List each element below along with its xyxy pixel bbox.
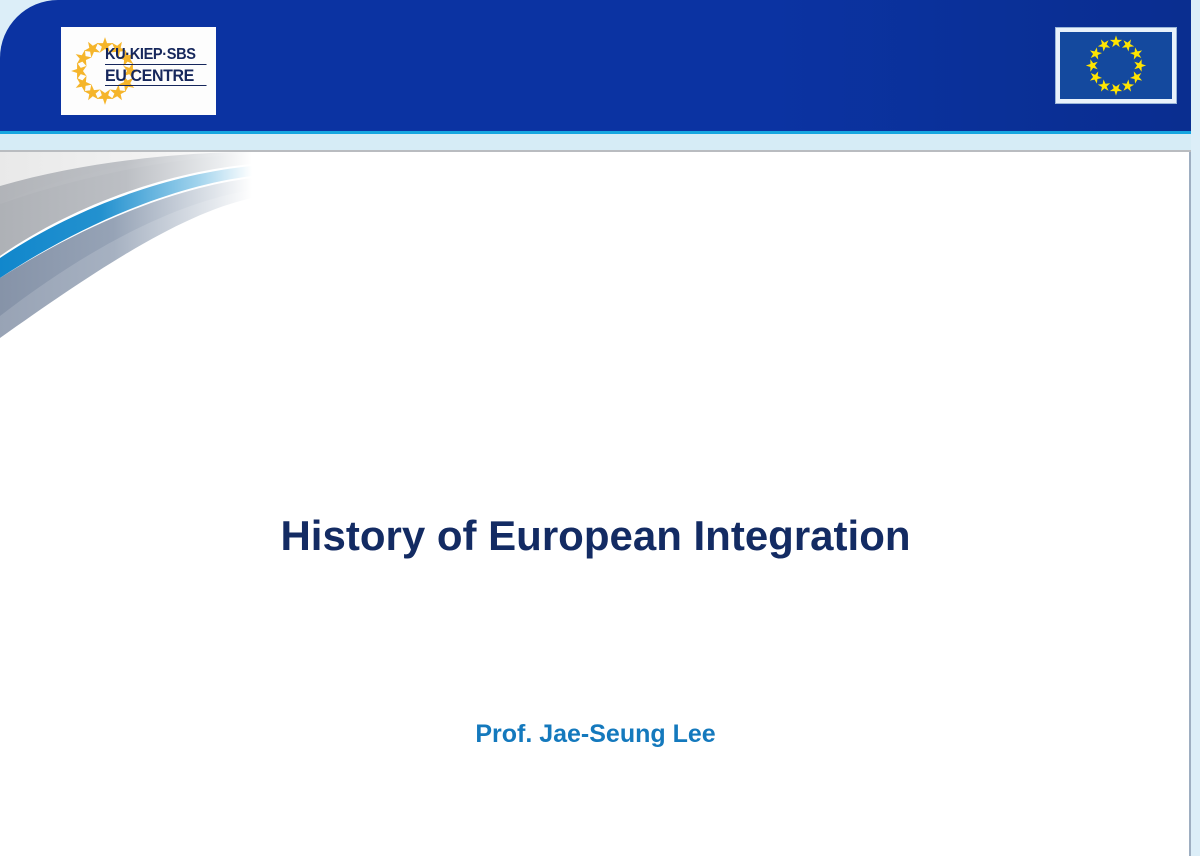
ku-kiep-sbs-eu-centre-logo[interactable]: KU·KIEP·SBS EU CENTRE	[61, 27, 216, 115]
presentation-slide: History of European Integration Prof. Ja…	[0, 0, 1200, 856]
corner-swoosh-decoration	[0, 152, 560, 452]
presenter-name: Prof. Jae-Seung Lee	[0, 720, 1191, 749]
content-right-border	[1189, 152, 1191, 856]
eu-flag-stars-icon	[1060, 32, 1172, 99]
logo-line-2: EU CENTRE	[105, 67, 207, 86]
page-title: History of European Integration	[0, 512, 1191, 560]
slide-content-area: History of European Integration Prof. Ja…	[0, 152, 1191, 856]
european-union-flag	[1056, 28, 1176, 103]
eu-flag-field	[1060, 32, 1172, 99]
header-soft-band	[0, 134, 1191, 150]
logo-wordmark: KU·KIEP·SBS EU CENTRE	[105, 47, 213, 88]
logo-line-1: KU·KIEP·SBS	[105, 47, 207, 65]
header-grey-rule	[0, 150, 1191, 152]
